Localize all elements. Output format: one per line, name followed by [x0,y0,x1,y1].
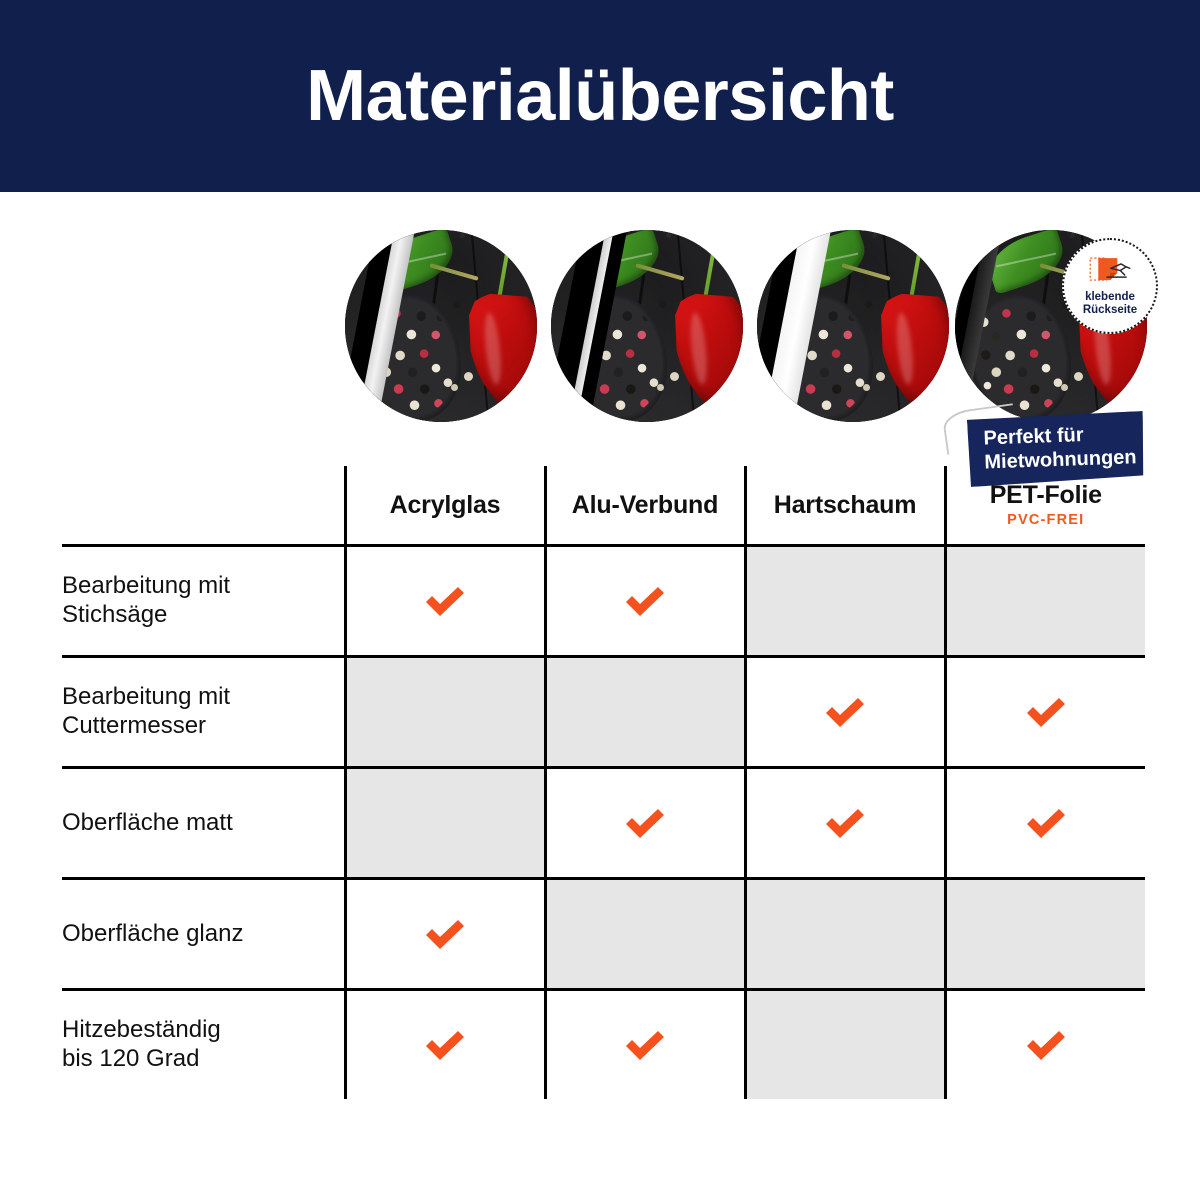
ribbon-line2: Mietwohnungen [984,445,1129,474]
row-label-cuttermesser: Bearbeitung mit Cuttermesser [62,657,345,768]
check-icon [1023,693,1069,731]
stray-peppercorn [863,384,870,391]
badge-label-line1: klebende [1085,291,1135,303]
cell-cuttermesser-pet-folie [945,657,1145,768]
check-icon [622,804,668,842]
row-label-line1: Bearbeitung mit [62,572,230,599]
column-header-hartschaum: Hartschaum [745,466,945,546]
cell-glanz-alu-verbund [545,879,745,990]
column-header-subtitle-pvc-frei: PVC-FREI [947,512,1146,528]
stray-peppercorn [453,301,460,308]
cell-hitzebestaendig-alu-verbund [545,990,745,1100]
row-label-line1: Hitzebeständig [62,1016,221,1043]
cell-stichsaege-alu-verbund [545,546,745,657]
cell-hitzebestaendig-pet-folie [945,990,1145,1100]
stray-peppercorn [1061,384,1068,391]
column-header-label: Hartschaum [747,492,944,518]
cell-stichsaege-pet-folie [945,546,1145,657]
perfekt-fuer-mietwohnungen-ribbon: Perfekt für Mietwohnungen [967,411,1145,487]
check-icon [622,582,668,620]
row-label-stichsaege: Bearbeitung mit Stichsäge [62,546,345,657]
check-icon [422,582,468,620]
cell-glanz-hartschaum [745,879,945,990]
cell-hitzebestaendig-acrylglas [345,990,545,1100]
row-label-oberflaeche-glanz: Oberfläche glanz [62,879,345,990]
row-label-line1: Oberfläche glanz [62,920,243,947]
badge-label: klebende Rückseite [1083,291,1137,316]
product-preview-alu-verbund [551,230,743,422]
table-row: Bearbeitung mit Stichsäge [62,546,1145,657]
stray-peppercorn [865,301,872,308]
column-header-alu-verbund: Alu-Verbund [545,466,745,546]
stray-peppercorn [657,384,664,391]
cell-cuttermesser-acrylglas [345,657,545,768]
stray-peppercorn [659,301,666,308]
header-banner: Materialübersicht [0,0,1200,192]
cell-matt-hartschaum [745,768,945,879]
stray-peppercorn [451,384,458,391]
spice-photo [551,230,743,422]
table-row: Bearbeitung mit Cuttermesser [62,657,1145,768]
table-body: Bearbeitung mit Stichsäge Bearbeitung mi… [62,546,1145,1100]
spice-photo [345,230,537,422]
product-preview-acrylglas [345,230,537,422]
cell-cuttermesser-hartschaum [745,657,945,768]
row-label-line2: Cuttermesser [62,712,206,739]
cell-matt-alu-verbund [545,768,745,879]
column-header-label: Alu-Verbund [547,492,744,518]
check-icon [822,804,868,842]
cell-stichsaege-hartschaum [745,546,945,657]
cell-glanz-acrylglas [345,879,545,990]
check-icon [822,693,868,731]
table-row: Oberfläche matt [62,768,1145,879]
peel-off-sticker-icon [1088,255,1132,289]
table-corner-cell [62,466,345,546]
badge-label-line2: Rückseite [1083,304,1137,316]
check-icon [1023,804,1069,842]
cell-matt-acrylglas [345,768,545,879]
table-row: Oberfläche glanz [62,879,1145,990]
product-preview-hartschaum [757,230,949,422]
row-label-line1: Bearbeitung mit [62,683,230,710]
row-label-line2: Stichsäge [62,601,167,628]
klebende-rueckseite-badge: klebende Rückseite [1062,238,1158,334]
row-label-oberflaeche-matt: Oberfläche matt [62,768,345,879]
product-preview-strip [0,230,1200,430]
check-icon [422,1026,468,1064]
cell-hitzebestaendig-hartschaum [745,990,945,1100]
row-label-line2: bis 120 Grad [62,1045,199,1072]
check-icon [1023,1026,1069,1064]
table-row: Hitzebeständig bis 120 Grad [62,990,1145,1100]
cell-matt-pet-folie [945,768,1145,879]
check-icon [622,1026,668,1064]
cell-stichsaege-acrylglas [345,546,545,657]
column-header-acrylglas: Acrylglas [345,466,545,546]
cell-glanz-pet-folie [945,879,1145,990]
cell-cuttermesser-alu-verbund [545,657,745,768]
page-title: Materialübersicht [306,60,894,132]
row-label-line1: Oberfläche matt [62,809,233,836]
check-icon [422,915,468,953]
spice-photo [757,230,949,422]
column-header-label: Acrylglas [347,492,544,518]
material-comparison-table: Acrylglas Alu-Verbund Hartschaum PET-Fol… [62,466,1145,1099]
row-label-hitzebestaendig: Hitzebeständig bis 120 Grad [62,990,345,1100]
